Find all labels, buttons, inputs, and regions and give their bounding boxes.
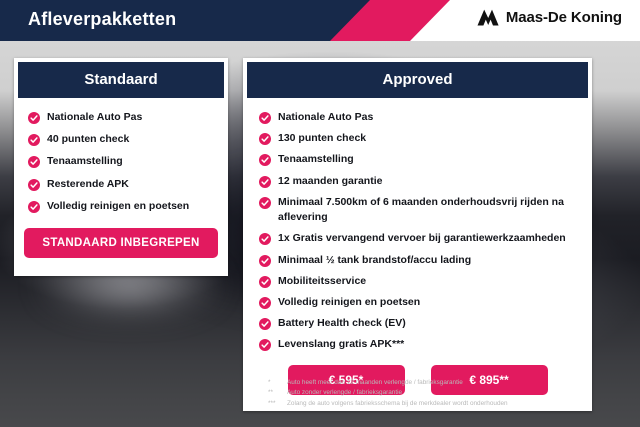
list-item: Resterende APK	[14, 177, 228, 192]
feature-text: Nationale Auto Pas	[278, 110, 373, 125]
feature-text: 40 punten check	[47, 132, 129, 147]
check-circle-icon	[28, 156, 40, 168]
footnote-text: Zolang de auto volgens fabrieksschema bi…	[287, 399, 598, 409]
feature-text: Battery Health check (EV)	[278, 316, 406, 331]
card-title-approved: Approved	[247, 62, 588, 98]
feature-text: 12 maanden garantie	[278, 174, 382, 189]
card-title-standaard: Standaard	[18, 62, 224, 98]
check-circle-icon	[28, 201, 40, 213]
check-circle-icon	[259, 133, 271, 145]
page-root: Afleverpakketten Maas-De Koning Standaar…	[0, 0, 640, 427]
footnote-text: Auto heeft meer dan 12 maanden verlengde…	[287, 378, 598, 388]
list-item: 130 punten check	[243, 131, 592, 146]
feature-list-approved: Nationale Auto Pas 130 punten check Tena…	[243, 110, 592, 353]
check-circle-icon	[28, 179, 40, 191]
check-circle-icon	[259, 197, 271, 209]
list-item: Tenaamstelling	[14, 154, 228, 169]
page-title: Afleverpakketten	[28, 9, 176, 30]
list-item: Volledig reinigen en poetsen	[243, 295, 592, 310]
list-item: Nationale Auto Pas	[14, 110, 228, 125]
list-item: Levenslang gratis APK***	[243, 337, 592, 352]
feature-text: Tenaamstelling	[278, 152, 354, 167]
list-item: Nationale Auto Pas	[243, 110, 592, 125]
feature-text: 130 punten check	[278, 131, 366, 146]
feature-text: 1x Gratis vervangend vervoer bij garanti…	[278, 231, 566, 246]
feature-text: Nationale Auto Pas	[47, 110, 142, 125]
list-item: Mobiliteitsservice	[243, 274, 592, 289]
brand-logo: Maas-De Koning	[477, 9, 622, 26]
check-circle-icon	[259, 297, 271, 309]
check-circle-icon	[28, 112, 40, 124]
feature-text: Levenslang gratis APK***	[278, 337, 404, 352]
card-body-approved: Nationale Auto Pas 130 punten check Tena…	[243, 98, 592, 411]
footnote-item: * Auto heeft meer dan 12 maanden verleng…	[268, 378, 598, 388]
list-item: Minimaal ½ tank brandstof/accu lading	[243, 253, 592, 268]
list-item: Tenaamstelling	[243, 152, 592, 167]
feature-text: Mobiliteitsservice	[278, 274, 366, 289]
check-circle-icon	[259, 255, 271, 267]
check-circle-icon	[259, 112, 271, 124]
list-item: 40 punten check	[14, 132, 228, 147]
package-card-standaard: Standaard Nationale Auto Pas 40 punten c…	[14, 58, 228, 276]
feature-text: Tenaamstelling	[47, 154, 123, 169]
footnotes: * Auto heeft meer dan 12 maanden verleng…	[268, 378, 598, 409]
package-card-approved: Approved Nationale Auto Pas 130 punten c…	[243, 58, 592, 411]
check-circle-icon	[28, 134, 40, 146]
list-item: 12 maanden garantie	[243, 174, 592, 189]
maas-de-koning-logo-icon	[477, 9, 499, 26]
header-bar: Afleverpakketten Maas-De Koning	[0, 0, 640, 41]
footnote-marker: *	[268, 378, 281, 388]
footnote-marker: ***	[268, 399, 281, 409]
check-circle-icon	[259, 339, 271, 351]
footnote-item: *** Zolang de auto volgens fabrieksschem…	[268, 399, 598, 409]
feature-text: Minimaal ½ tank brandstof/accu lading	[278, 253, 471, 268]
feature-text: Volledig reinigen en poetsen	[278, 295, 420, 310]
list-item: Volledig reinigen en poetsen	[14, 199, 228, 214]
brand-name: Maas-De Koning	[506, 9, 622, 26]
list-item: Battery Health check (EV)	[243, 316, 592, 331]
feature-text: Resterende APK	[47, 177, 129, 192]
check-circle-icon	[259, 276, 271, 288]
standaard-inbegrepen-button[interactable]: STANDAARD INBEGREPEN	[24, 228, 218, 258]
check-circle-icon	[259, 154, 271, 166]
list-item: Minimaal 7.500km of 6 maanden onderhouds…	[243, 195, 592, 225]
card-body-standaard: Nationale Auto Pas 40 punten check Tenaa…	[14, 98, 228, 276]
footnote-marker: **	[268, 388, 281, 398]
feature-text: Minimaal 7.500km of 6 maanden onderhouds…	[278, 195, 582, 225]
footnote-item: ** Auto zonder verlengde / fabrieksgaran…	[268, 388, 598, 398]
check-circle-icon	[259, 233, 271, 245]
check-circle-icon	[259, 176, 271, 188]
feature-list-standaard: Nationale Auto Pas 40 punten check Tenaa…	[14, 110, 228, 214]
check-circle-icon	[259, 318, 271, 330]
footnote-text: Auto zonder verlengde / fabrieksgarantie	[287, 388, 598, 398]
feature-text: Volledig reinigen en poetsen	[47, 199, 189, 214]
list-item: 1x Gratis vervangend vervoer bij garanti…	[243, 231, 592, 246]
